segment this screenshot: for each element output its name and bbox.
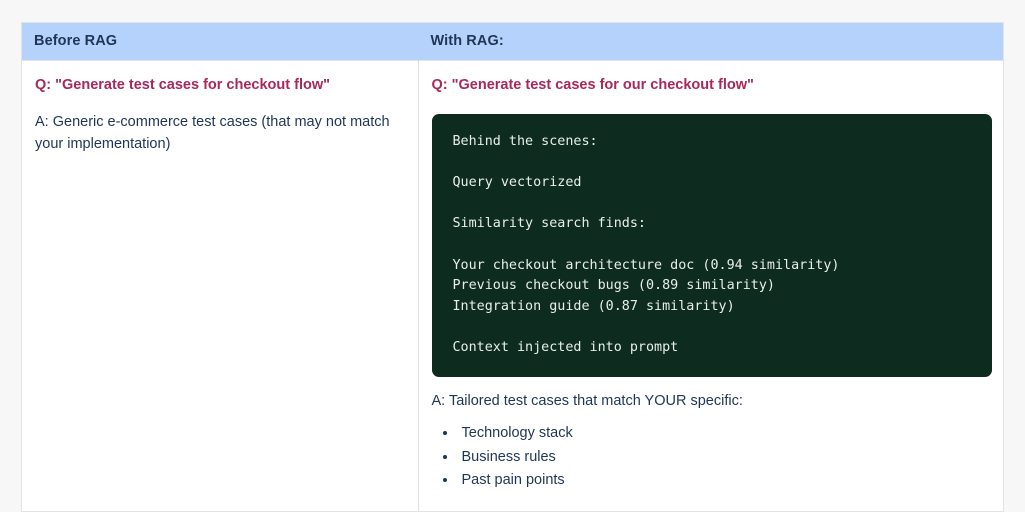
cell-before-rag: Q: "Generate test cases for checkout flo… bbox=[22, 61, 418, 512]
list-item: Business rules bbox=[458, 446, 991, 468]
column-header-with-rag: With RAG: bbox=[418, 23, 1003, 61]
table-row: Q: "Generate test cases for checkout flo… bbox=[22, 61, 1003, 512]
page-root: Before RAG With RAG: Q: "Generate test c… bbox=[0, 0, 1025, 512]
with-rag-answer: A: Tailored test cases that match YOUR s… bbox=[432, 391, 991, 413]
with-rag-bullet-list: Technology stack Business rules Past pai… bbox=[432, 422, 991, 491]
table-header-row: Before RAG With RAG: bbox=[22, 23, 1003, 61]
table-header: Before RAG With RAG: bbox=[22, 23, 1003, 61]
table-body: Q: "Generate test cases for checkout flo… bbox=[22, 61, 1003, 512]
column-header-before-rag: Before RAG bbox=[22, 23, 418, 61]
behind-the-scenes-code-block: Behind the scenes: Query vectorized Simi… bbox=[432, 114, 992, 377]
list-item: Technology stack bbox=[458, 422, 991, 444]
list-item: Past pain points bbox=[458, 469, 991, 491]
rag-comparison-table: Before RAG With RAG: Q: "Generate test c… bbox=[22, 23, 1003, 511]
with-rag-question: Q: "Generate test cases for our checkout… bbox=[432, 75, 991, 96]
cell-with-rag: Q: "Generate test cases for our checkout… bbox=[418, 61, 1003, 512]
before-rag-question: Q: "Generate test cases for checkout flo… bbox=[35, 75, 405, 96]
before-rag-answer: A: Generic e-commerce test cases (that m… bbox=[35, 112, 405, 156]
